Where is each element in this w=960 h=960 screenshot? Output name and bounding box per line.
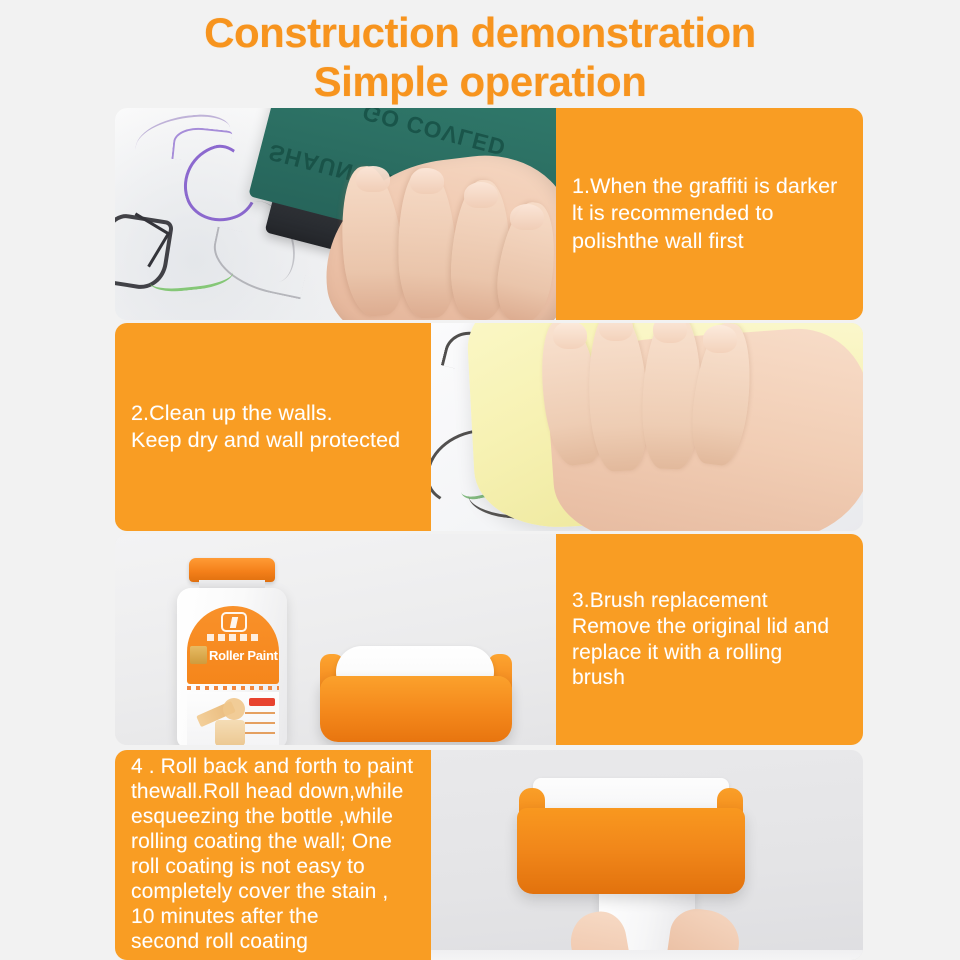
bottle-body: Roller Paint [177,588,287,745]
bottle-cap [189,558,275,582]
step-row-2: 2.Clean up the walls. Keep dry and wall … [115,323,863,531]
label-illustration-block [215,720,245,745]
step-3-caption: 3.Brush replacement Remove the original … [556,534,863,745]
step-row-1: GO COVLED SHAUNG SH 1.When the graffiti … [115,108,863,320]
step-4-caption: 4 . Roll back and forth to paint thewall… [115,750,431,960]
brand-logo-icon [221,612,247,632]
page-title: Construction demonstration Simple operat… [0,4,960,103]
fingernail-middle [410,168,444,194]
step-2-caption: 2.Clean up the walls. Keep dry and wall … [115,323,431,531]
fingernail-little [703,325,737,353]
label-bullet-lines [245,712,275,742]
steps-list: GO COVLED SHAUNG SH 1.When the graffiti … [115,108,863,960]
roller-brush-assembled [517,778,745,902]
fingernail-ring [464,182,498,208]
step-3-caption-text: 3.Brush replacement Remove the original … [572,588,829,690]
bottle-label-arch: Roller Paint [187,606,279,684]
fingernail-little [510,204,544,230]
fingernail-ring [653,323,687,343]
step-row-4: 4 . Roll back and forth to paint thewall… [115,750,863,960]
label-dotted-divider [187,686,279,690]
label-red-tag [249,698,275,706]
step-row-3: Roller Paint [115,534,863,745]
roller-body [320,676,512,742]
brand-name-cn [207,634,261,641]
step-4-caption-text: 4 . Roll back and forth to paint thewall… [131,755,413,955]
step-2-photo [431,323,863,531]
product-name: Roller Paint [209,648,278,663]
bottle-label-lower [187,692,279,745]
fingernail-index [356,166,390,192]
photo-baseline [431,950,863,960]
title-line-2: Simple operation [0,54,960,103]
title-line-1: Construction demonstration [0,4,960,54]
step-1-caption: 1.When the graffiti is darker lt is reco… [556,108,863,320]
step-1-caption-text: 1.When the graffiti is darker lt is reco… [572,173,837,254]
paint-bottle: Roller Paint [173,558,289,745]
roller-body [517,808,745,894]
roller-brush-head [320,642,512,742]
step-2-caption-text: 2.Clean up the walls. Keep dry and wall … [131,400,400,454]
label-illustration-circle [223,698,245,720]
step-3-photo: Roller Paint [115,534,556,745]
fingernail-index [553,323,587,349]
label-badge-icon [190,646,207,664]
step-1-photo: GO COVLED SHAUNG SH [115,108,556,320]
step-4-photo [431,750,863,960]
